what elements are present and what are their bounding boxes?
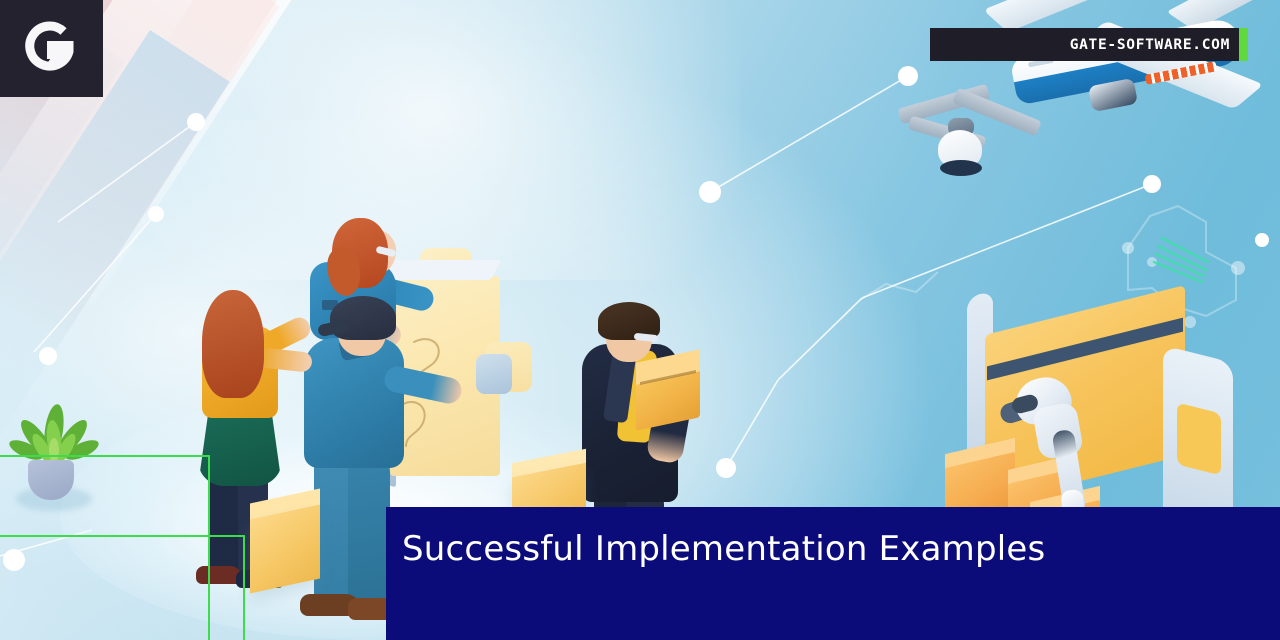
page-title: Successful Implementation Examples bbox=[386, 507, 1045, 569]
gate-software-logo-icon bbox=[23, 20, 81, 78]
drone-base bbox=[940, 160, 982, 176]
floor-box-1 bbox=[250, 505, 320, 594]
watermark-accent-bar bbox=[1239, 28, 1248, 61]
watermark-bar: GATE-SOFTWARE.COM bbox=[930, 28, 1248, 61]
brand-logo-tile[interactable] bbox=[0, 0, 103, 97]
watermark-text: GATE-SOFTWARE.COM bbox=[1070, 37, 1248, 53]
title-bar: Successful Implementation Examples bbox=[386, 507, 1280, 640]
annotation-box-2 bbox=[0, 535, 245, 640]
hero-banner: GATE-SOFTWARE.COM Successful Implementat… bbox=[0, 0, 1280, 640]
